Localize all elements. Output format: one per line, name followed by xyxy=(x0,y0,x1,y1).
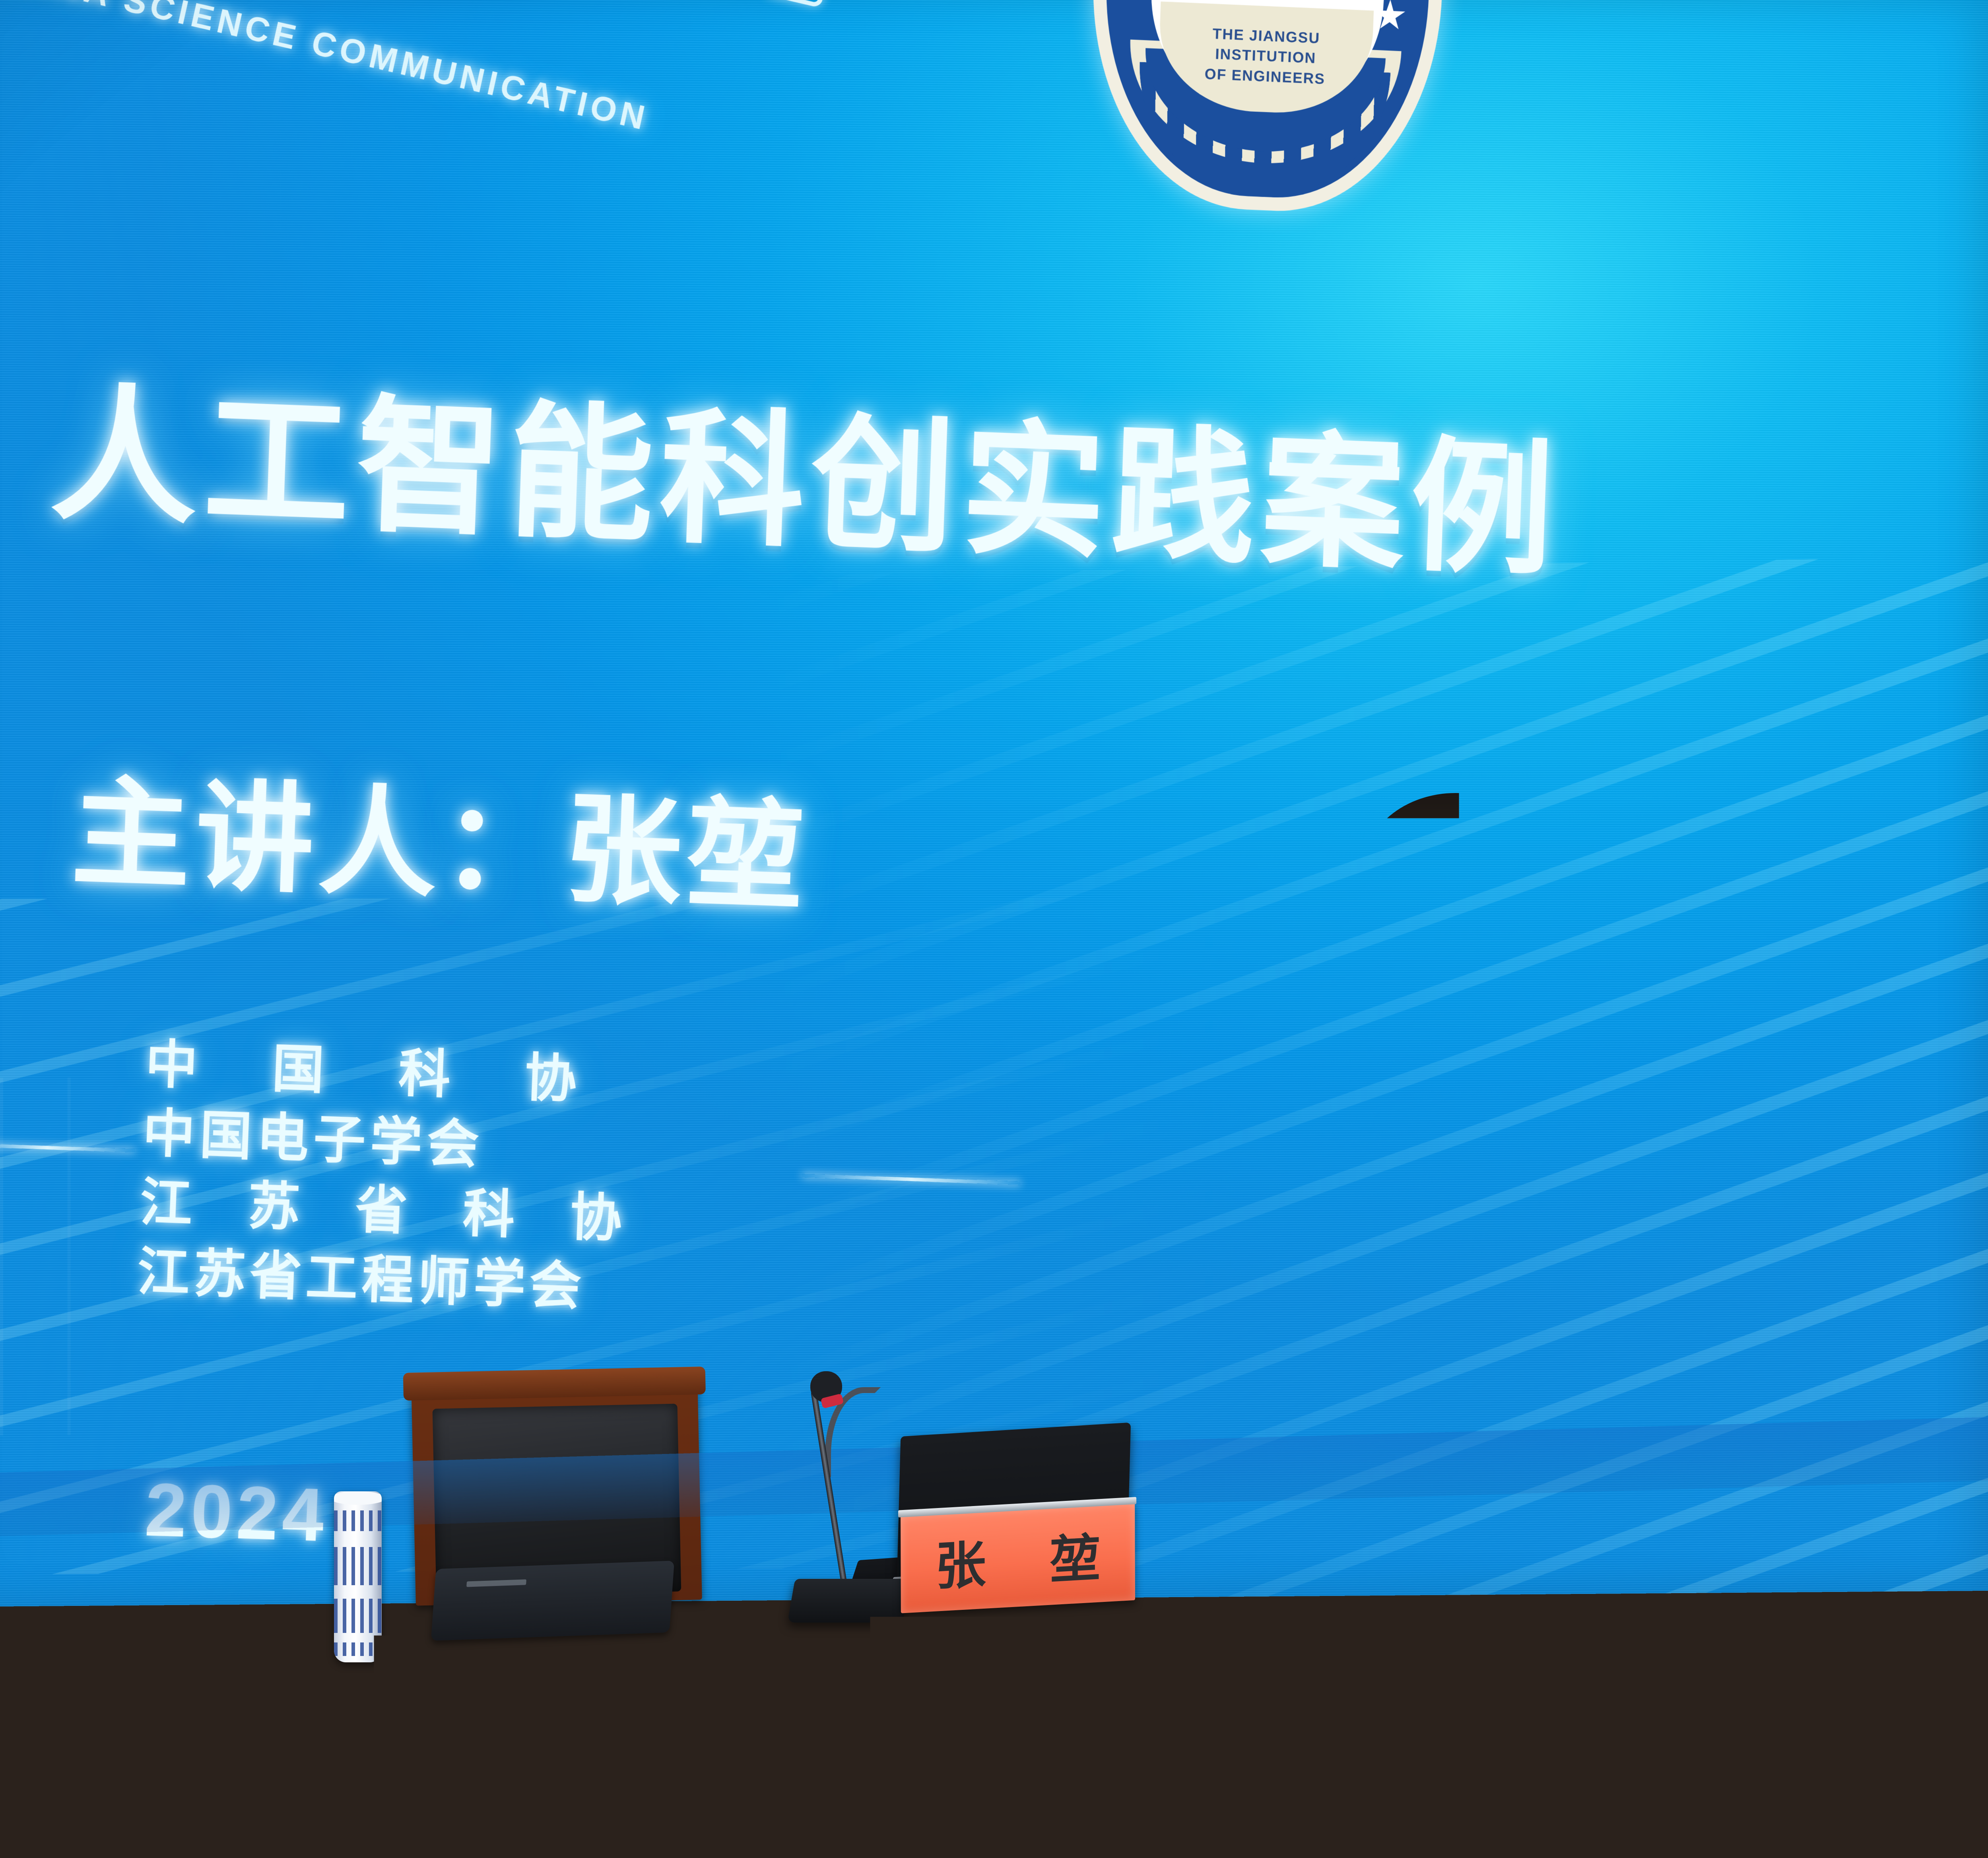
presentation-photo-scene: CHINA SCIENCE COMMUNICATION THE JIA xyxy=(0,0,1988,1858)
slide-title: 人工智能科创实践案例 xyxy=(48,334,1563,604)
podium-wood-panel xyxy=(1736,1652,1988,1858)
organizer-list: 中 国 科 协 中国电子学会 江 苏 省 科 协 江苏省工程师学会 xyxy=(136,1030,648,1323)
brand-icon-row xyxy=(603,0,834,8)
podium-wood-panel xyxy=(889,1681,1064,1858)
speaker-mouth xyxy=(1443,966,1499,987)
microphone-grille xyxy=(1586,1199,1662,1287)
podium-panel-seam xyxy=(1063,1617,1074,1858)
podium-wood-panel xyxy=(1104,1663,1716,1858)
square-split-icon xyxy=(762,0,834,8)
speaker-hair-side-left xyxy=(1358,839,1389,919)
jiangsu-institution-of-engineers-crest: THE JIANGSU INSTITUTION OF ENGINEERS xyxy=(1086,0,1448,217)
china-science-communication-wordmark: CHINA SCIENCE COMMUNICATION xyxy=(0,0,652,138)
slide-speaker-line: 主讲人：张堃 xyxy=(69,736,812,933)
crest-caption: THE JIANGSU INSTITUTION OF ENGINEERS xyxy=(1158,22,1373,91)
speaker-hair-side-right xyxy=(1519,839,1552,923)
organizer-divider-right xyxy=(802,1174,1020,1185)
speaker-upper-hand xyxy=(1506,1286,1627,1430)
